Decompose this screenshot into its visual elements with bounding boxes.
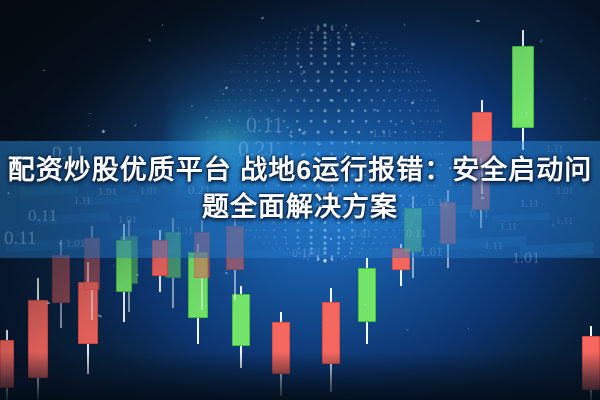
particle [330, 237, 333, 240]
particle [286, 126, 289, 128]
particle [229, 119, 231, 121]
particle [340, 39, 342, 40]
particle [530, 93, 531, 94]
particle [222, 93, 224, 95]
title-line-1: 配资炒股优质平台 战地6运行报错：安全启动问 [8, 155, 593, 185]
particle [373, 109, 376, 112]
particle [261, 16, 265, 19]
particle [162, 24, 164, 26]
particle [404, 23, 406, 26]
particle [148, 39, 151, 43]
particle [394, 123, 396, 126]
particle [411, 102, 414, 105]
particle [59, 242, 63, 245]
title-line-2: 题全面解决方案 [0, 189, 600, 226]
particle [539, 38, 543, 42]
particle [325, 324, 328, 327]
particle [47, 302, 50, 304]
particle [406, 69, 407, 73]
particle [98, 314, 102, 317]
particle [476, 20, 480, 22]
particle [87, 125, 90, 128]
particle [438, 134, 441, 137]
particle [329, 99, 332, 101]
particle [134, 124, 136, 127]
particle [584, 98, 586, 100]
particle [345, 24, 347, 27]
particle [410, 66, 412, 68]
particle [386, 66, 388, 68]
particle [301, 132, 305, 135]
particle [102, 129, 106, 133]
particle [225, 271, 228, 274]
particle [351, 140, 353, 143]
particle [525, 111, 527, 114]
page-title: 配资炒股优质平台 战地6运行报错：安全启动问 题全面解决方案 [0, 152, 600, 226]
particle [412, 122, 414, 124]
particle [468, 328, 469, 329]
particle [329, 39, 331, 42]
particle [299, 66, 302, 69]
particle [406, 329, 408, 331]
particle [224, 86, 227, 89]
particle [89, 113, 91, 114]
banner-image: 0.111.011.010.211.110.111.010.111.011.11… [0, 0, 600, 400]
particle [289, 134, 293, 138]
particle [363, 304, 366, 306]
particle [205, 116, 209, 119]
particle [135, 273, 139, 276]
particle [113, 264, 114, 268]
particle [342, 236, 345, 240]
particle [300, 73, 303, 75]
particle [42, 70, 46, 71]
particle [351, 42, 356, 46]
particle [318, 144, 321, 147]
particle [191, 105, 194, 108]
